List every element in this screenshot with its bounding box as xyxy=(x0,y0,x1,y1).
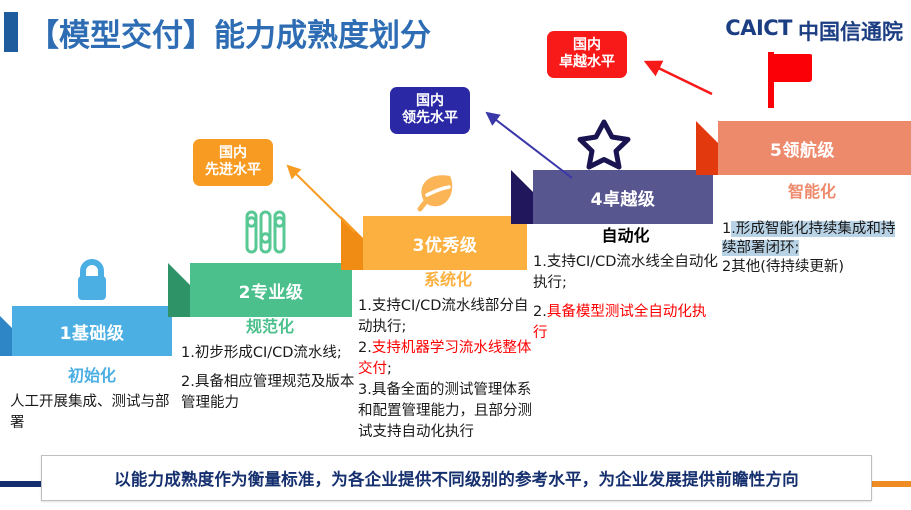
callout-leading[interactable]: 国内 领先水平 xyxy=(390,87,470,134)
callout-connectors xyxy=(0,0,911,510)
slide-canvas: 【模型交付】能力成熟度划分 CAICT 中国信通院 xyxy=(0,0,911,510)
callout-line2: 先进水平 xyxy=(205,162,261,179)
callout-excellent[interactable]: 国内 卓越水平 xyxy=(547,31,627,78)
callout-line1: 国内 xyxy=(559,37,615,54)
callout-line1: 国内 xyxy=(205,145,261,162)
callout-advanced[interactable]: 国内 先进水平 xyxy=(193,139,273,186)
callout-line2: 领先水平 xyxy=(402,110,458,127)
callout-line2: 卓越水平 xyxy=(559,54,615,71)
callout-line1: 国内 xyxy=(402,93,458,110)
